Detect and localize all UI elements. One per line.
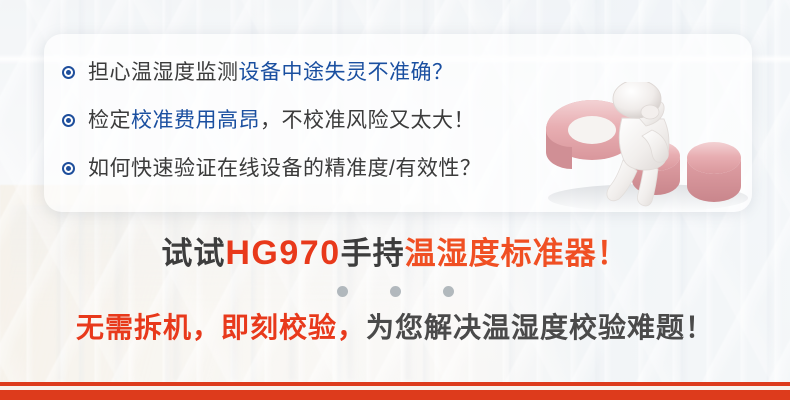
subline-part-1: 无需拆机，即刻校验，: [76, 312, 366, 343]
subline: 无需拆机，即刻校验，为您解决温湿度校验难题！: [0, 314, 790, 342]
bullet-1-segment-1: 担心温湿度监测: [88, 61, 239, 84]
divider-dot-3: [443, 286, 454, 297]
list-item: 如何快速验证在线设备的精准度/有效性？: [62, 144, 582, 192]
bullet-3-segment-1: 如何快速验证在线设备的精准度/有效性？: [88, 157, 481, 180]
headline-product-name: HG970: [225, 234, 340, 272]
three-dot-divider: [0, 286, 790, 297]
radio-dot-bullet-icon: [62, 66, 75, 79]
footer-stripe-thick: [0, 390, 790, 400]
headline-part-1: 试试: [161, 236, 225, 271]
pain-points-list: 担心温湿度监测设备中途失灵不准确？ 检定校准费用高昂，不校准风险又太大！ 如何快…: [62, 48, 582, 192]
subline-part-2: 为您解决温湿度校验难题！: [366, 312, 714, 343]
radio-dot-bullet-icon: [62, 162, 75, 175]
list-item: 担心温湿度监测设备中途失灵不准确？: [62, 48, 582, 96]
figure-hand: [641, 105, 659, 119]
headline-part-2: 手持: [341, 236, 405, 271]
bullet-1-segment-2: 设备中途失灵不准确？: [239, 61, 454, 84]
bullet-2-segment-2: 校准费用高昂: [131, 109, 260, 132]
bullet-text-2: 检定校准费用高昂，不校准风险又太大！: [88, 110, 475, 131]
radio-dot-bullet-icon: [62, 114, 75, 127]
divider-dot-1: [337, 286, 348, 297]
divider-dot-2: [390, 286, 401, 297]
bullet-text-3: 如何快速验证在线设备的精准度/有效性？: [88, 158, 481, 179]
bullet-2-segment-1: 检定: [88, 109, 131, 132]
bullet-text-1: 担心温湿度监测设备中途失灵不准确？: [88, 62, 454, 83]
list-item: 检定校准费用高昂，不校准风险又太大！: [62, 96, 582, 144]
bullet-2-segment-3: ，不校准风险又太大！: [260, 109, 475, 132]
headline-part-3: 温湿度标准器！: [405, 236, 629, 271]
question-mark-dot: [687, 142, 741, 202]
headline: 试试HG970手持温湿度标准器！: [0, 236, 790, 270]
promo-banner: 担心温湿度监测设备中途失灵不准确？ 检定校准费用高昂，不校准风险又太大！ 如何快…: [0, 0, 790, 400]
